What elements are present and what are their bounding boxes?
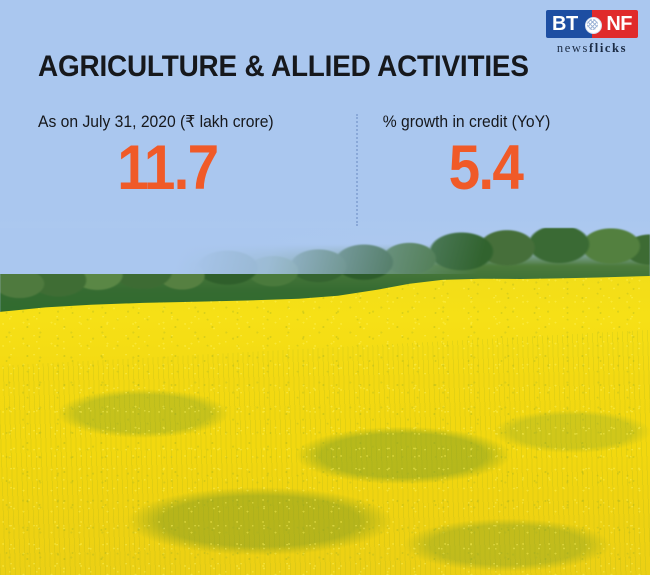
brand-logo-bt-text: BT bbox=[552, 10, 578, 38]
stat-value: 11.7 bbox=[53, 134, 323, 202]
brand-wordmark-light: news bbox=[557, 41, 589, 55]
photo-mustard-field bbox=[0, 276, 650, 575]
brand-logo-mark: BT NF bbox=[546, 10, 638, 38]
header-band: BT NF newsflicks AGRICULTURE & ALLIED AC… bbox=[0, 0, 650, 232]
stat-credit-growth: % growth in credit (YoY) 5.4 bbox=[378, 112, 618, 202]
stat-credit-outstanding: As on July 31, 2020 (₹ lakh crore) 11.7 bbox=[38, 112, 338, 202]
infographic-card: BT NF newsflicks AGRICULTURE & ALLIED AC… bbox=[0, 0, 650, 575]
stat-label: As on July 31, 2020 (₹ lakh crore) bbox=[38, 112, 323, 132]
stats-divider bbox=[356, 114, 358, 226]
brand-logo-nf-text: NF bbox=[606, 10, 632, 38]
page-title: AGRICULTURE & ALLIED ACTIVITIES bbox=[38, 50, 529, 84]
brand-wordmark: newsflicks bbox=[546, 41, 638, 56]
brand-wordmark-bold: flicks bbox=[589, 41, 627, 55]
stat-value: 5.4 bbox=[390, 134, 606, 202]
brand-logo[interactable]: BT NF newsflicks bbox=[546, 10, 638, 56]
stat-label: % growth in credit (YoY) bbox=[378, 112, 606, 132]
globe-icon bbox=[585, 17, 602, 34]
stats-row: As on July 31, 2020 (₹ lakh crore) 11.7 … bbox=[0, 112, 650, 232]
photo-treeline-haze bbox=[0, 228, 650, 274]
